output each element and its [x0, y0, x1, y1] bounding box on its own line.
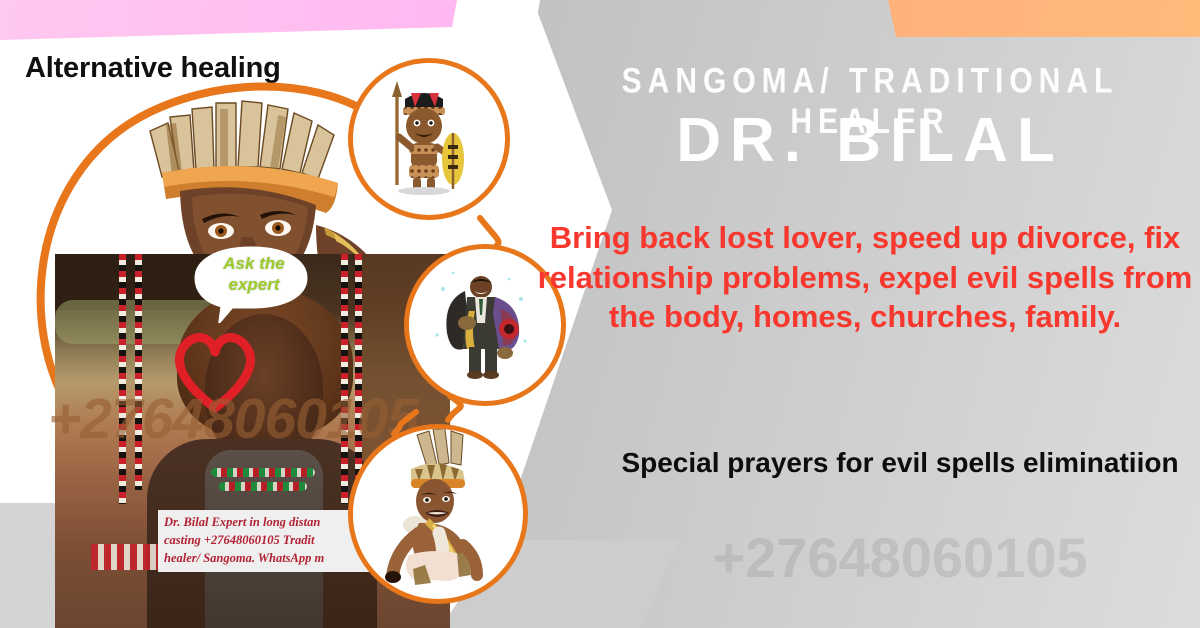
bead-strand-left2 — [135, 254, 142, 490]
circle-zulu-warrior — [348, 58, 510, 220]
circle-zulu-dancer — [348, 424, 528, 604]
speech-bubble-label: Ask the expert — [204, 253, 304, 296]
traditional-healer-cloak-icon — [409, 249, 551, 391]
special-prayers-text: Special prayers for evil spells eliminat… — [610, 444, 1190, 482]
watermark-phone: +27648060105 — [600, 525, 1200, 590]
zulu-dancer-icon — [353, 429, 513, 589]
services-text: Bring back lost lover, speed up divorce,… — [535, 218, 1195, 337]
zulu-warrior-cartoon-icon — [353, 63, 495, 205]
neck-beads-2 — [219, 482, 307, 491]
bead-strand-left — [119, 254, 126, 504]
neck-beads — [211, 468, 315, 477]
poster-canvas: Alternative healing — [0, 0, 1200, 628]
doctor-name-title: DR. BILAL — [560, 108, 1180, 173]
